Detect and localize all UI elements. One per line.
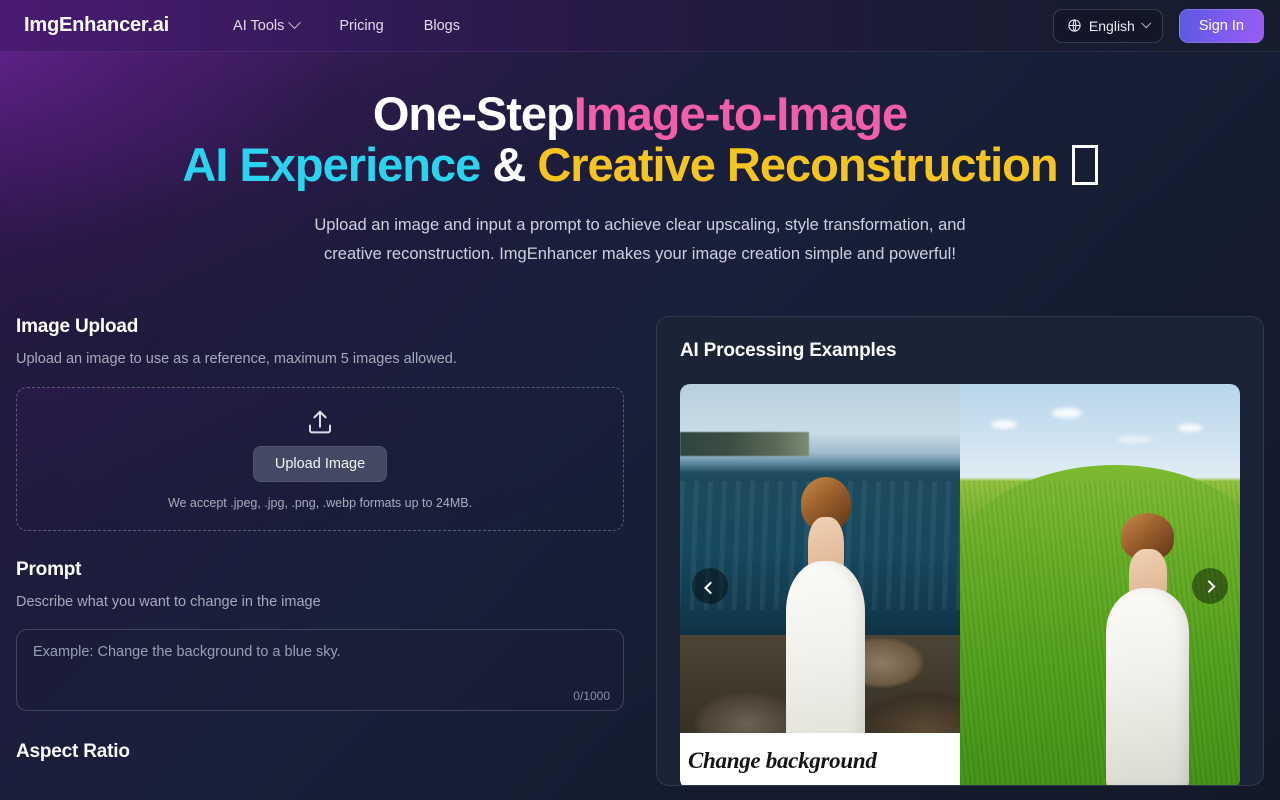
aspect-ratio-title: Aspect Ratio: [16, 741, 624, 763]
hero-title-part-one-step: One-Step: [373, 87, 574, 140]
prompt-character-counter: 0/1000: [573, 689, 610, 703]
prompt-input[interactable]: Example: Change the background to a blue…: [16, 629, 624, 711]
top-right-actions: English Sign In: [1053, 9, 1264, 43]
language-selector[interactable]: English: [1053, 9, 1163, 43]
image-upload-section: Image Upload Upload an image to use as a…: [16, 316, 624, 531]
chevron-left-icon: [704, 581, 717, 594]
prompt-section: Prompt Describe what you want to change …: [16, 559, 624, 711]
missing-glyph-icon: [1072, 145, 1098, 185]
globe-icon: [1067, 18, 1082, 33]
hero-section: One-StepImage-to-Image AI Experience & C…: [0, 52, 1280, 270]
hero-title-ampersand: &: [480, 138, 537, 191]
nav-item-pricing[interactable]: Pricing: [339, 18, 383, 34]
left-panel: Image Upload Upload an image to use as a…: [16, 316, 624, 763]
hero-title-part-ai-experience: AI Experience: [182, 138, 480, 191]
main-content: Image Upload Upload an image to use as a…: [0, 270, 1280, 786]
upload-icon: [305, 408, 335, 438]
nav-item-ai-tools-label: AI Tools: [233, 18, 284, 34]
examples-carousel[interactable]: Change background: [680, 384, 1240, 786]
ai-processing-examples-card: AI Processing Examples: [656, 316, 1264, 786]
chevron-right-icon: [1202, 580, 1215, 593]
language-label: English: [1089, 18, 1135, 34]
cloud-detail: [1052, 408, 1082, 418]
cloud-detail: [991, 420, 1017, 429]
main-nav-links: AI Tools Pricing Blogs: [233, 18, 460, 34]
prompt-title: Prompt: [16, 559, 624, 581]
chevron-down-icon: [1141, 18, 1151, 28]
cloud-detail: [1178, 424, 1202, 432]
accepted-formats-text: We accept .jpeg, .jpg, .png, .webp forma…: [168, 496, 472, 510]
hero-title-part-creative-reconstruction: Creative Reconstruction: [537, 138, 1057, 191]
right-panel: AI Processing Examples: [656, 316, 1264, 786]
carousel-prev-button[interactable]: [692, 568, 728, 604]
before-after-divider: [960, 384, 962, 786]
example-caption: Change background: [688, 748, 877, 774]
sign-in-button[interactable]: Sign In: [1179, 9, 1264, 43]
hero-title-line-two: AI Experience & Creative Reconstruction: [0, 141, 1280, 189]
prompt-placeholder: Example: Change the background to a blue…: [33, 644, 607, 660]
hero-title-part-image-to-image: Image-to-Image: [574, 87, 907, 140]
nav-item-blogs[interactable]: Blogs: [424, 18, 460, 34]
brand-logo[interactable]: ImgEnhancer.ai: [24, 14, 169, 37]
top-navigation-bar: ImgEnhancer.ai AI Tools Pricing Blogs En…: [0, 0, 1280, 52]
image-upload-description: Upload an image to use as a reference, m…: [16, 351, 624, 367]
carousel-next-button[interactable]: [1192, 568, 1228, 604]
nav-item-ai-tools[interactable]: AI Tools: [233, 18, 299, 34]
chevron-down-icon: [289, 16, 302, 29]
image-upload-title: Image Upload: [16, 316, 624, 338]
coastline-detail: [680, 432, 809, 456]
image-dropzone[interactable]: Upload Image We accept .jpeg, .jpg, .png…: [16, 387, 624, 531]
dress-detail: [1106, 588, 1190, 786]
upload-image-button[interactable]: Upload Image: [253, 446, 387, 482]
bride-figure-after: [1100, 513, 1195, 785]
example-caption-bar: Change background: [680, 733, 960, 786]
examples-title: AI Processing Examples: [680, 340, 1240, 362]
page-root: ImgEnhancer.ai AI Tools Pricing Blogs En…: [0, 0, 1280, 800]
page-title: One-StepImage-to-Image AI Experience & C…: [0, 90, 1280, 189]
prompt-description: Describe what you want to change in the …: [16, 594, 624, 610]
cloud-detail: [1117, 436, 1151, 443]
hero-subtitle: Upload an image and input a prompt to ac…: [310, 211, 970, 270]
